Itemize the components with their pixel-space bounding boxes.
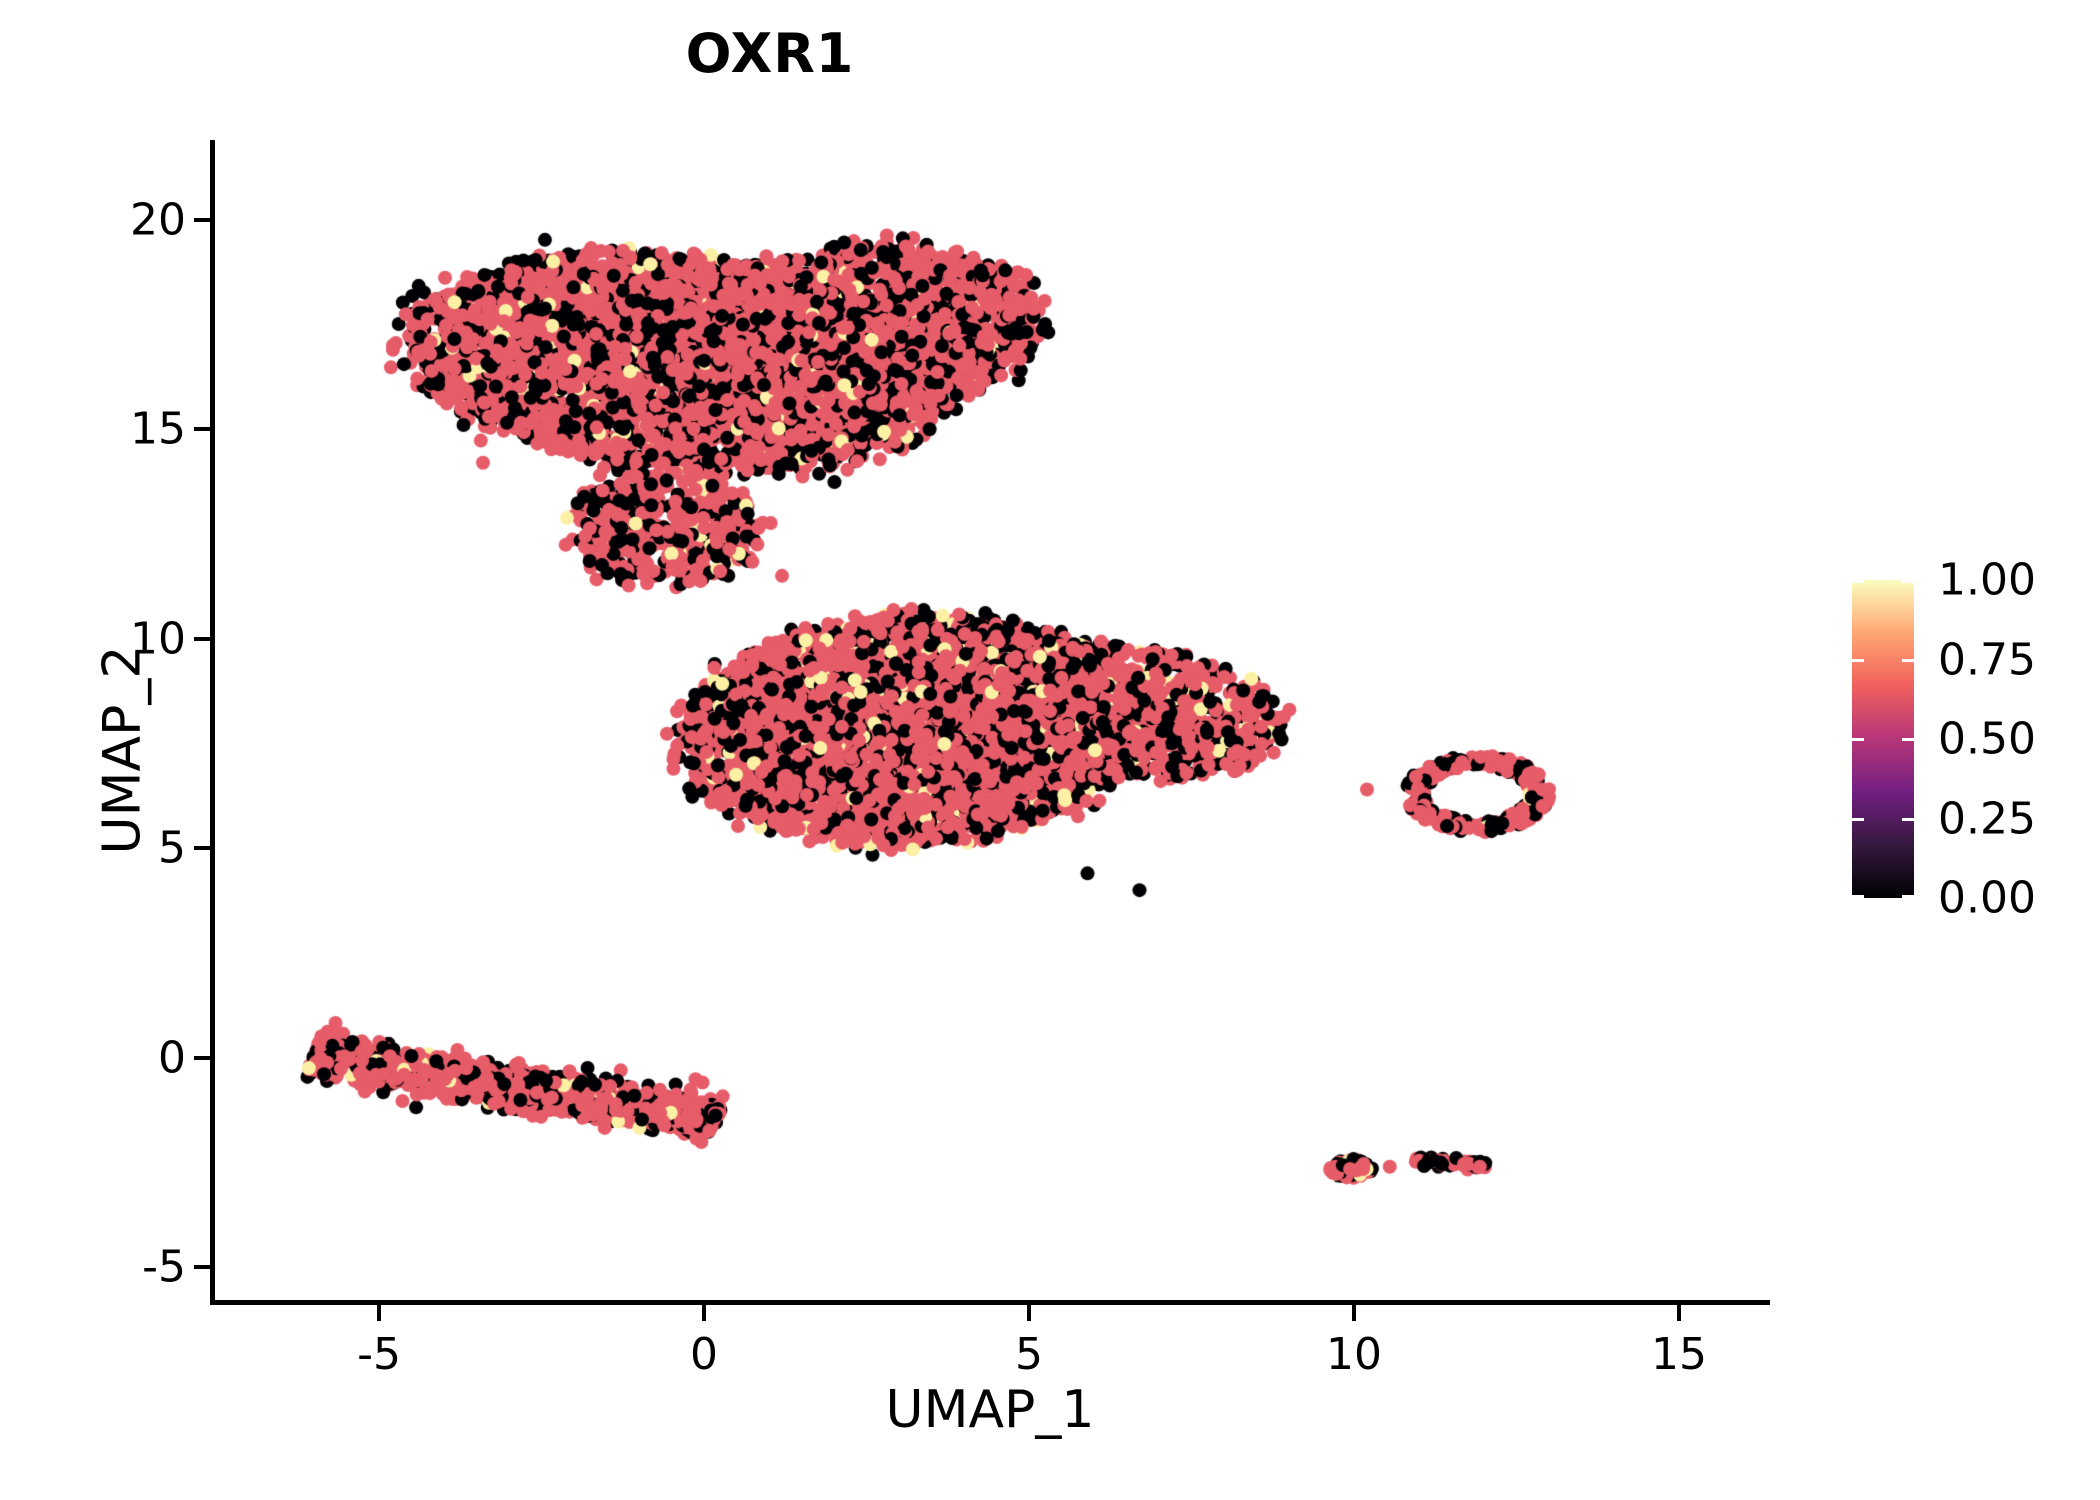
y-tick-label: 5 bbox=[158, 823, 186, 874]
y-axis-spine bbox=[210, 140, 215, 1305]
colorbar-tick-mark bbox=[1902, 659, 1914, 662]
x-tick-mark bbox=[1677, 1305, 1681, 1321]
colorbar-tick-mark bbox=[1852, 580, 1864, 583]
colorbar-tick-mark bbox=[1902, 818, 1914, 821]
y-tick-mark bbox=[194, 427, 210, 431]
x-tick-mark bbox=[377, 1305, 381, 1321]
x-tick-mark bbox=[702, 1305, 706, 1321]
y-tick-label: 0 bbox=[158, 1032, 186, 1083]
x-tick-label: -5 bbox=[357, 1329, 401, 1380]
colorbar-tick-label: 1.00 bbox=[1938, 555, 2036, 606]
colorbar-tick-mark bbox=[1852, 738, 1864, 741]
y-tick-mark bbox=[194, 1265, 210, 1269]
x-axis-spine bbox=[210, 1300, 1770, 1305]
y-tick-mark bbox=[194, 637, 210, 641]
y-tick-mark bbox=[194, 1056, 210, 1060]
page-title: OXR1 bbox=[0, 22, 1540, 85]
y-tick-label: 20 bbox=[130, 194, 186, 245]
colorbar-tick-mark bbox=[1852, 895, 1864, 898]
colorbar-tick-label: 0.75 bbox=[1938, 634, 2036, 685]
umap-feature-plot: OXR1 -505101520 -5051015 UMAP_2 UMAP_1 1… bbox=[0, 0, 2100, 1500]
scatter-canvas bbox=[210, 140, 1770, 1305]
colorbar-tick-label: 0.50 bbox=[1938, 714, 2036, 765]
y-tick-mark bbox=[194, 218, 210, 222]
colorbar-tick-label: 0.25 bbox=[1938, 793, 2036, 844]
x-tick-label: 10 bbox=[1326, 1329, 1382, 1380]
colorbar-tick-mark bbox=[1902, 738, 1914, 741]
colorbar-tick-mark bbox=[1902, 895, 1914, 898]
x-tick-label: 0 bbox=[690, 1329, 718, 1380]
y-tick-label: -5 bbox=[142, 1242, 186, 1293]
colorbar-tick-mark bbox=[1852, 659, 1864, 662]
colorbar-tick-mark bbox=[1902, 580, 1914, 583]
y-tick-mark bbox=[194, 846, 210, 850]
colorbar-tick-label: 0.00 bbox=[1938, 873, 2036, 924]
y-axis-label: UMAP_2 bbox=[92, 646, 152, 855]
y-tick-label: 15 bbox=[130, 404, 186, 455]
x-tick-label: 5 bbox=[1015, 1329, 1043, 1380]
x-tick-mark bbox=[1027, 1305, 1031, 1321]
plot-axes: -505101520 -5051015 bbox=[210, 140, 1770, 1305]
x-axis-label: UMAP_1 bbox=[210, 1380, 1770, 1440]
x-tick-mark bbox=[1352, 1305, 1356, 1321]
x-tick-label: 15 bbox=[1651, 1329, 1707, 1380]
colorbar-legend: 1.000.750.500.250.00 bbox=[1852, 580, 2092, 900]
colorbar-tick-mark bbox=[1852, 818, 1864, 821]
